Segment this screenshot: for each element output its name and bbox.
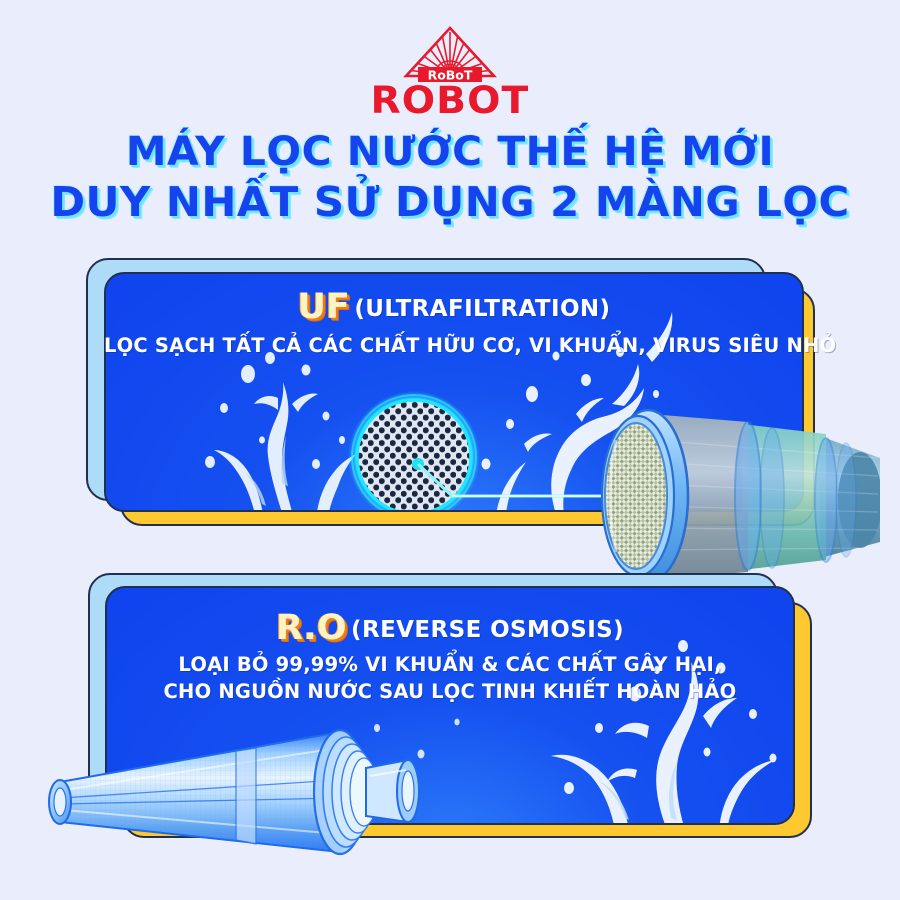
water-droplets-ro-icon bbox=[357, 708, 497, 818]
card-ro-subtitle-line-1: LOẠI BỎ 99,99% VI KHUẨN & CÁC CHẤT GÂY H… bbox=[105, 652, 795, 679]
poster-canvas: RoBoT ROBOT ® MÁY LỌC NƯỚC THẾ HỆ MỚI DU… bbox=[0, 0, 900, 900]
card-ro[interactable]: R.O (REVERSE OSMOSIS) LOẠI BỎ 99,99% VI … bbox=[0, 0, 900, 900]
card-ro-subtitle: LOẠI BỎ 99,99% VI KHUẨN & CÁC CHẤT GÂY H… bbox=[105, 652, 795, 706]
water-splash-ro-right-icon bbox=[507, 618, 795, 825]
card-ro-fullname: (REVERSE OSMOSIS) bbox=[351, 617, 624, 643]
card-ro-abbr: R.O bbox=[276, 608, 347, 648]
card-ro-title: R.O (REVERSE OSMOSIS) bbox=[105, 608, 795, 648]
card-ro-subtitle-line-2: CHO NGUỒN NƯỚC SAU LỌC TINH KHIẾT HOÀN H… bbox=[105, 679, 795, 706]
